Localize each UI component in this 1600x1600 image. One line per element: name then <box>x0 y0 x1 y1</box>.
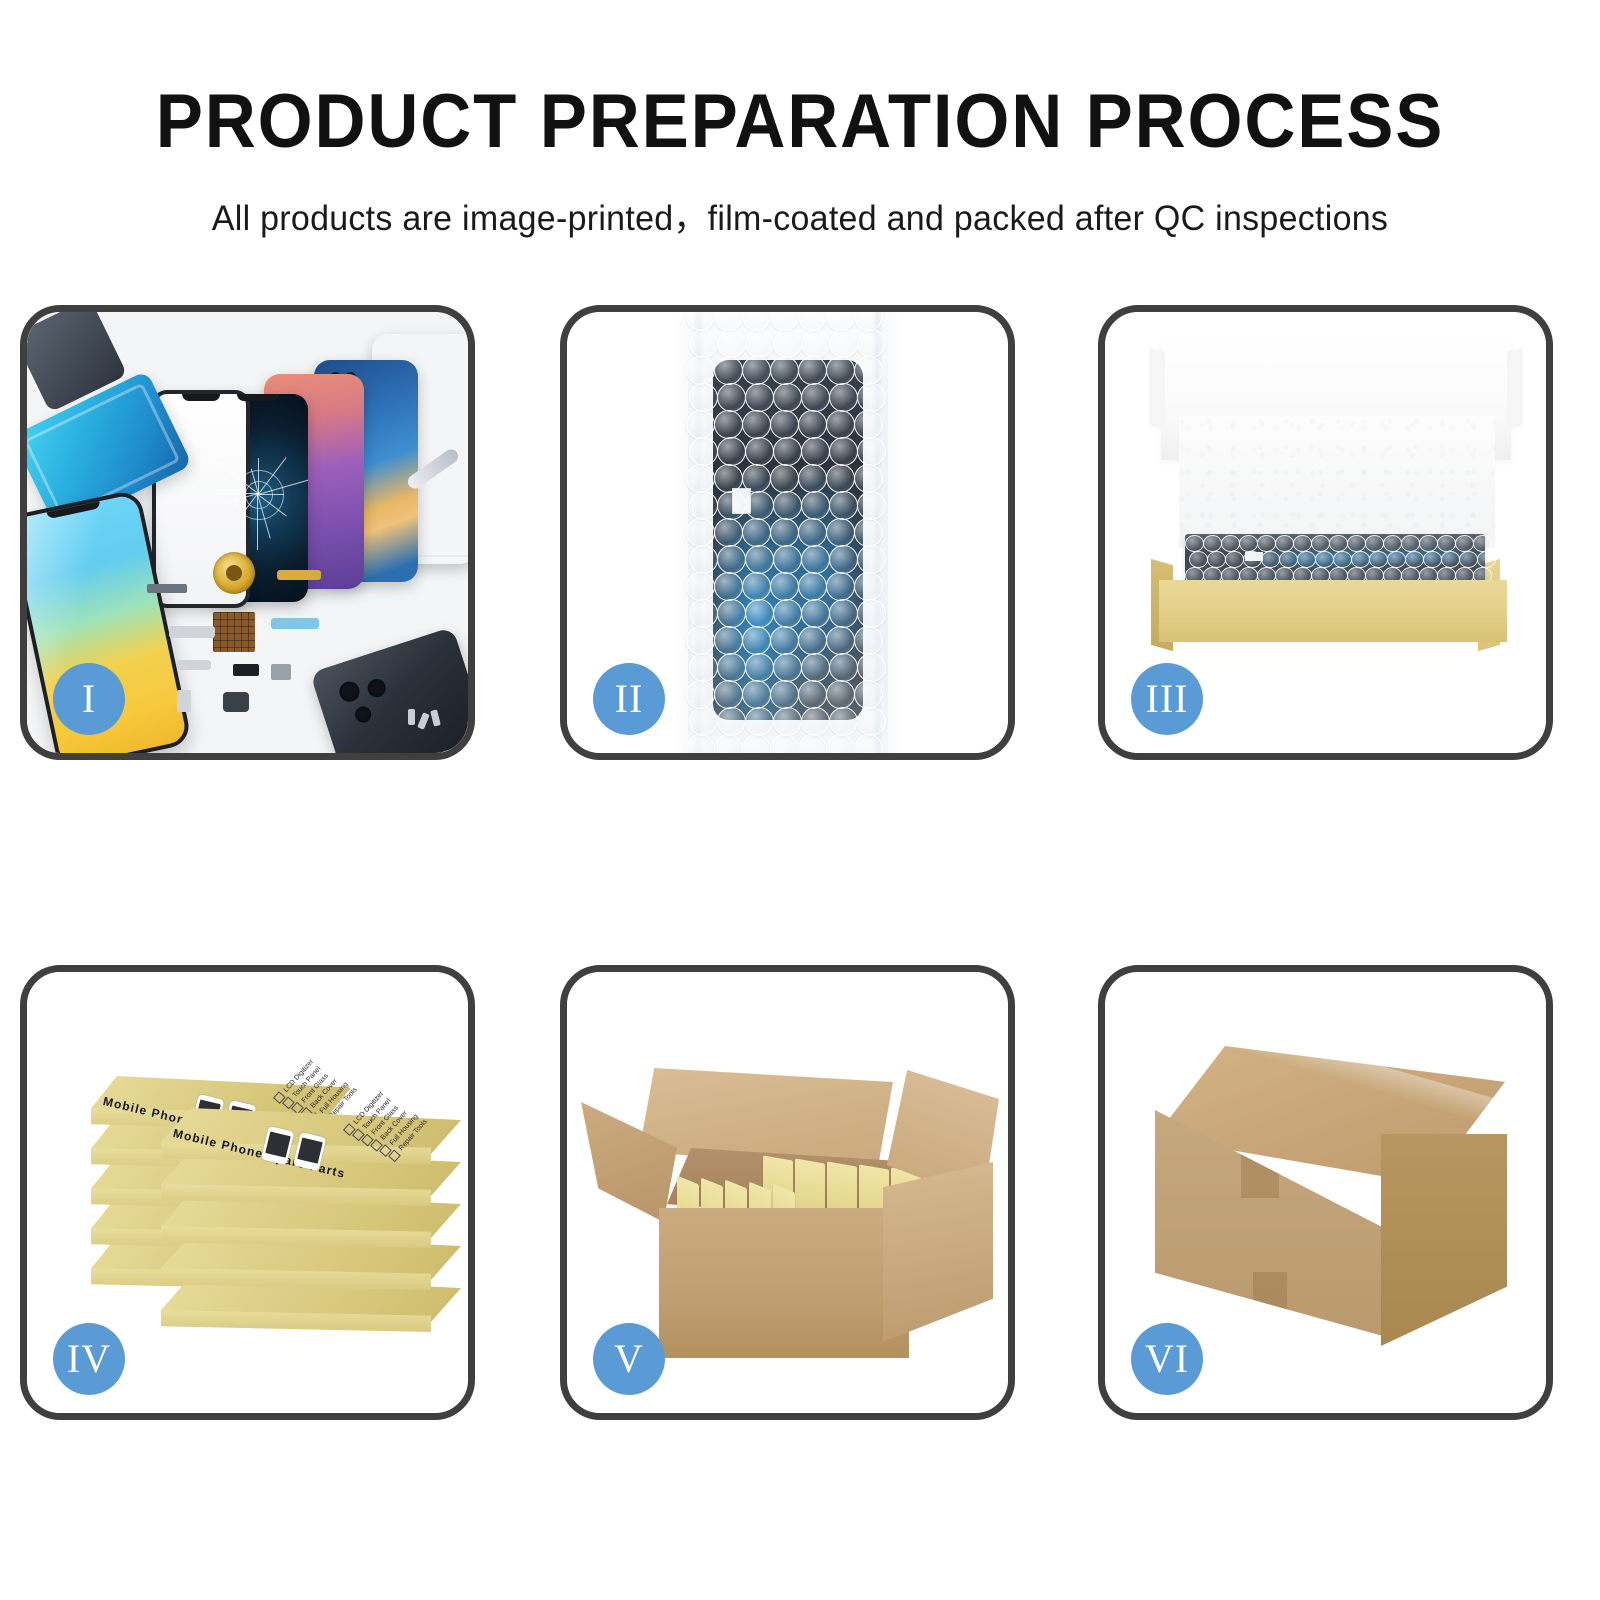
bubble <box>742 734 771 753</box>
flex-cable-gold <box>277 570 321 580</box>
screw-2 <box>417 712 429 729</box>
mailer-kraft-front <box>1159 580 1507 642</box>
bubble <box>1329 535 1348 552</box>
steps-row-top: I II <box>0 305 1600 775</box>
bubble <box>1221 535 1240 552</box>
bubble <box>1401 535 1420 552</box>
phone-notch <box>237 394 279 401</box>
wireless-charging-coil <box>213 552 255 594</box>
sealed-shipping-carton <box>1155 1046 1505 1336</box>
bubble <box>1297 551 1316 568</box>
bubble <box>1455 535 1474 552</box>
mailer-bubble-pattern <box>1185 534 1485 582</box>
step-badge-2: II <box>593 663 665 735</box>
sim-tray <box>177 690 191 712</box>
carton-right-face <box>1381 1134 1507 1346</box>
crack-ring <box>234 470 284 520</box>
bubble <box>1207 551 1226 568</box>
header: PRODUCT PREPARATION PROCESS All products… <box>0 0 1600 241</box>
bubble <box>745 329 774 358</box>
bubble <box>798 312 827 331</box>
step-badge-5: V <box>593 1323 665 1395</box>
wrap-seal-right <box>871 312 884 753</box>
bubble-wrap-sheet <box>688 312 888 753</box>
step-panel-1[interactable]: I <box>20 305 475 760</box>
steps-row-bottom: Mobile Phone Spare PartsLCD DigitizerTou… <box>0 965 1600 1435</box>
protector-notch <box>182 394 220 401</box>
bubble <box>1257 535 1276 552</box>
screw-set <box>408 709 444 735</box>
bubble <box>1275 535 1294 552</box>
bubble <box>1473 535 1492 552</box>
bubble <box>1261 551 1280 568</box>
bubble <box>1347 535 1366 552</box>
steps-grid: I II <box>0 305 1600 1435</box>
bubble <box>714 312 743 331</box>
earpiece-mesh-part <box>147 584 187 593</box>
ic-chip-part <box>213 612 255 652</box>
carton-front-face <box>659 1208 909 1358</box>
bubble <box>1203 535 1222 552</box>
retail-box-phone-screen <box>297 1137 322 1163</box>
step-badge-6: VI <box>1131 1323 1203 1395</box>
mailer-product-label <box>1245 552 1263 561</box>
screw-1 <box>408 709 415 725</box>
wrapped-screen-product <box>713 360 863 720</box>
bubble <box>1315 551 1334 568</box>
retail-box: Mobile Phone Spare PartsLCD DigitizerTou… <box>161 1108 461 1166</box>
bubble <box>1405 551 1424 568</box>
bubble <box>1351 551 1370 568</box>
bubble <box>826 312 855 331</box>
step-badge-1: I <box>53 663 125 735</box>
connector-part <box>177 660 211 670</box>
bubble <box>1185 535 1204 552</box>
mailer-wrapped-product <box>1185 534 1485 582</box>
page-title: PRODUCT PREPARATION PROCESS <box>56 84 1544 160</box>
bubble <box>1419 535 1438 552</box>
product-preparation-infographic: PRODUCT PREPARATION PROCESS All products… <box>0 0 1600 1600</box>
product-label-tag <box>732 488 751 514</box>
mailer-foam-liner <box>1179 416 1495 548</box>
screw-3 <box>430 709 441 726</box>
bubble <box>714 734 743 753</box>
bubble <box>1311 535 1330 552</box>
step-panel-2[interactable]: II <box>560 305 1015 760</box>
bubble <box>770 312 799 331</box>
bubble <box>1279 551 1298 568</box>
step-panel-3[interactable]: III <box>1098 305 1553 760</box>
bubble <box>717 329 746 358</box>
bubble <box>1383 535 1402 552</box>
step-panel-5[interactable]: V <box>560 965 1015 1420</box>
camera-module <box>271 664 291 680</box>
camera-lens-3 <box>353 704 373 724</box>
bubble <box>1365 535 1384 552</box>
bubble <box>1293 535 1312 552</box>
bubble <box>801 329 830 358</box>
step-panel-6[interactable]: VI <box>1098 965 1553 1420</box>
bubble <box>1387 551 1406 568</box>
battery-connector <box>233 664 259 676</box>
bubble <box>829 329 858 358</box>
wrap-seal-left <box>692 312 705 753</box>
bubble <box>1333 551 1352 568</box>
camera-lens-2 <box>365 677 388 700</box>
bubble <box>1239 535 1258 552</box>
flex-cable-grey <box>169 626 215 638</box>
bubble <box>773 329 802 358</box>
step-badge-4: IV <box>53 1323 125 1395</box>
bubble <box>770 734 799 753</box>
bubble <box>1189 551 1208 568</box>
bubble <box>1369 551 1388 568</box>
carton-tab-lower <box>1253 1272 1287 1314</box>
bubble <box>1437 535 1456 552</box>
bubble <box>798 734 827 753</box>
bubble <box>1459 551 1478 568</box>
page-subtitle: All products are image-printed，film-coat… <box>24 190 1576 241</box>
bubble <box>742 312 771 331</box>
camera-lens <box>337 679 362 704</box>
bubble <box>1423 551 1442 568</box>
bubble <box>1225 551 1244 568</box>
bubble <box>1441 551 1460 568</box>
retail-box-phone-screen <box>265 1131 290 1157</box>
speaker-module <box>223 692 249 712</box>
step-badge-3: III <box>1131 663 1203 735</box>
flex-cable-blue <box>271 618 319 629</box>
bubble <box>826 734 855 753</box>
bubble <box>1477 551 1496 568</box>
step-panel-4[interactable]: Mobile Phone Spare PartsLCD DigitizerTou… <box>20 965 475 1420</box>
